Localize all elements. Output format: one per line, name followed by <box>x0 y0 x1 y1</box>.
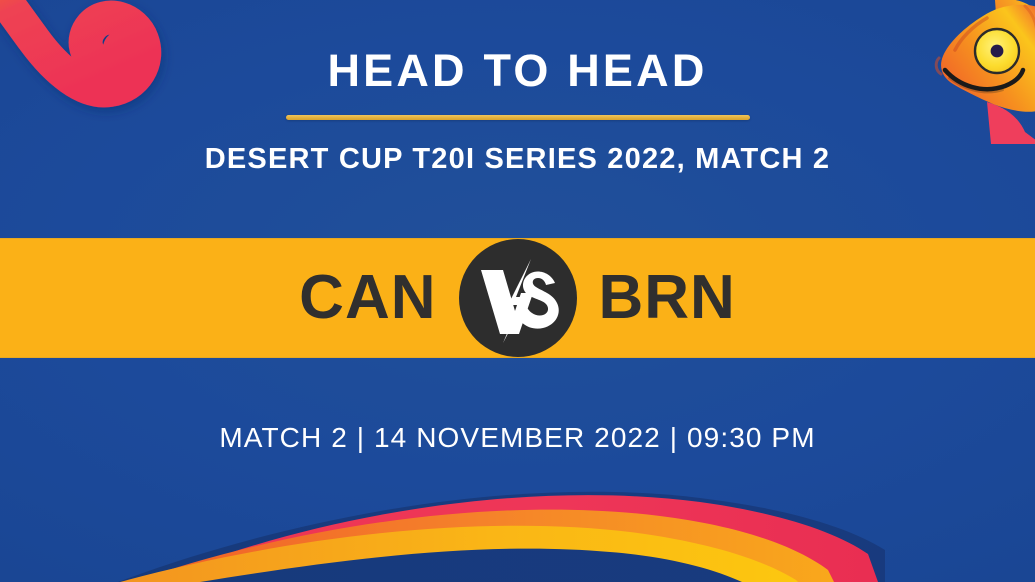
page-title: HEAD TO HEAD <box>327 48 707 93</box>
vs-lightning-badge <box>459 239 577 357</box>
match-meta-section: MATCH 2 | 14 NOVEMBER 2022 | 09:30 PM <box>0 358 1035 518</box>
match-meta-text: MATCH 2 | 14 NOVEMBER 2022 | 09:30 PM <box>219 422 815 454</box>
poster-header: HEAD TO HEAD DESERT CUP T20I SERIES 2022… <box>0 0 1035 238</box>
gold-divider-line <box>286 115 750 120</box>
matchup-band: CAN BRN <box>0 238 1035 358</box>
head-to-head-poster: HEAD TO HEAD DESERT CUP T20I SERIES 2022… <box>0 0 1035 582</box>
series-subtitle: DESERT CUP T20I SERIES 2022, MATCH 2 <box>205 143 831 176</box>
team-right-code: BRN <box>599 267 736 329</box>
team-left-code: CAN <box>299 267 436 329</box>
matchup-row: CAN BRN <box>299 239 736 357</box>
